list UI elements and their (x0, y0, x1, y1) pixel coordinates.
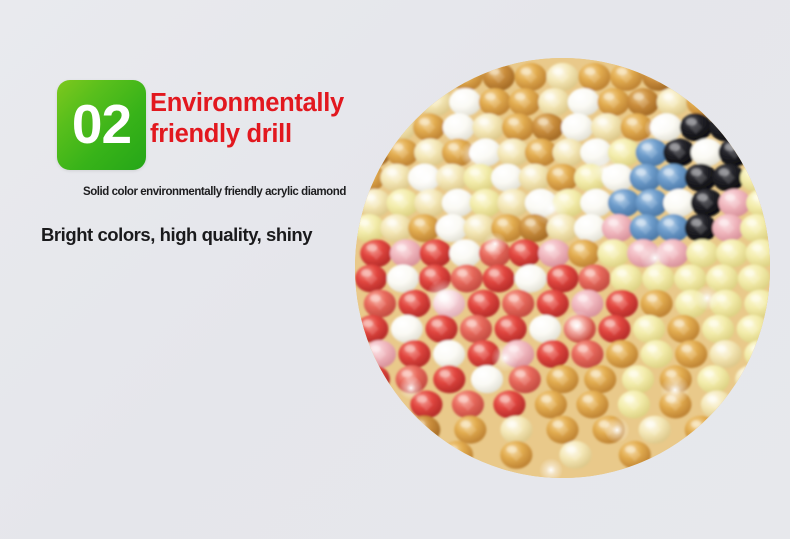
headline: Environmentally friendly drill (150, 88, 365, 150)
tagline-text: Bright colors, high quality, shiny (41, 224, 312, 246)
step-number-badge: 02 (57, 80, 146, 170)
promo-banner: 02 Environmentally friendly drill Solid … (0, 0, 790, 539)
headline-line-1: Environmentally (150, 88, 365, 119)
bead-grid-illustration (355, 58, 770, 478)
headline-line-2: friendly drill (150, 119, 365, 150)
bead-closeup-photo (355, 58, 770, 478)
step-number-label: 02 (72, 97, 131, 152)
text-column: 02 Environmentally friendly drill Solid … (0, 0, 370, 539)
subtitle-text: Solid color environmentally friendly acr… (83, 186, 346, 198)
